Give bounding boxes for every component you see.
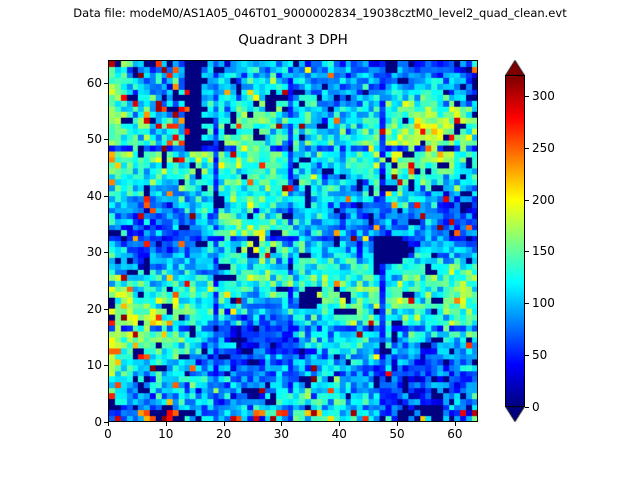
y-tick-mark-40: [104, 196, 108, 197]
colorbar-tick-label-150: 150: [532, 245, 555, 257]
colorbar-extend-low-arrow-icon: [505, 406, 525, 422]
colorbar-tick-label-300: 300: [532, 90, 555, 102]
colorbar-tick-mark-100: [525, 303, 529, 304]
x-tick-mark-40: [339, 422, 340, 426]
x-tick-mark-20: [224, 422, 225, 426]
x-tick-label-60: 60: [435, 428, 475, 440]
colorbar-tick-label-200: 200: [532, 194, 555, 206]
x-tick-label-10: 10: [146, 428, 186, 440]
colorbar-tick-mark-150: [525, 251, 529, 252]
y-tick-mark-50: [104, 139, 108, 140]
x-axis-tick-labels: 0102030405060: [0, 0, 640, 480]
x-tick-mark-30: [281, 422, 282, 426]
colorbar-tick-mark-250: [525, 148, 529, 149]
x-tick-mark-60: [455, 422, 456, 426]
x-tick-label-20: 20: [204, 428, 244, 440]
y-tick-mark-20: [104, 309, 108, 310]
x-tick-label-30: 30: [261, 428, 301, 440]
y-tick-mark-60: [104, 83, 108, 84]
colorbar-tick-mark-0: [525, 407, 529, 408]
colorbar-gradient-canvas: [506, 76, 524, 406]
colorbar-tick-label-250: 250: [532, 142, 555, 154]
colorbar-tick-label-50: 50: [532, 349, 547, 361]
colorbar-tick-mark-300: [525, 96, 529, 97]
x-tick-mark-10: [166, 422, 167, 426]
y-tick-mark-10: [104, 365, 108, 366]
colorbar-tick-mark-200: [525, 200, 529, 201]
x-tick-label-0: 0: [88, 428, 128, 440]
y-tick-mark-30: [104, 252, 108, 253]
colorbar-gradient: [505, 75, 525, 407]
matplotlib-figure: Data file: modeM0/AS1A05_046T01_90000028…: [0, 0, 640, 480]
colorbar-extend-high-arrow-icon: [505, 60, 525, 76]
x-tick-label-40: 40: [319, 428, 359, 440]
colorbar: 050100150200250300: [505, 60, 525, 422]
x-tick-label-50: 50: [377, 428, 417, 440]
colorbar-tick-label-0: 0: [532, 401, 540, 413]
colorbar-tick-label-100: 100: [532, 297, 555, 309]
x-tick-mark-50: [397, 422, 398, 426]
colorbar-tick-mark-50: [525, 355, 529, 356]
x-tick-mark-0: [108, 422, 109, 426]
